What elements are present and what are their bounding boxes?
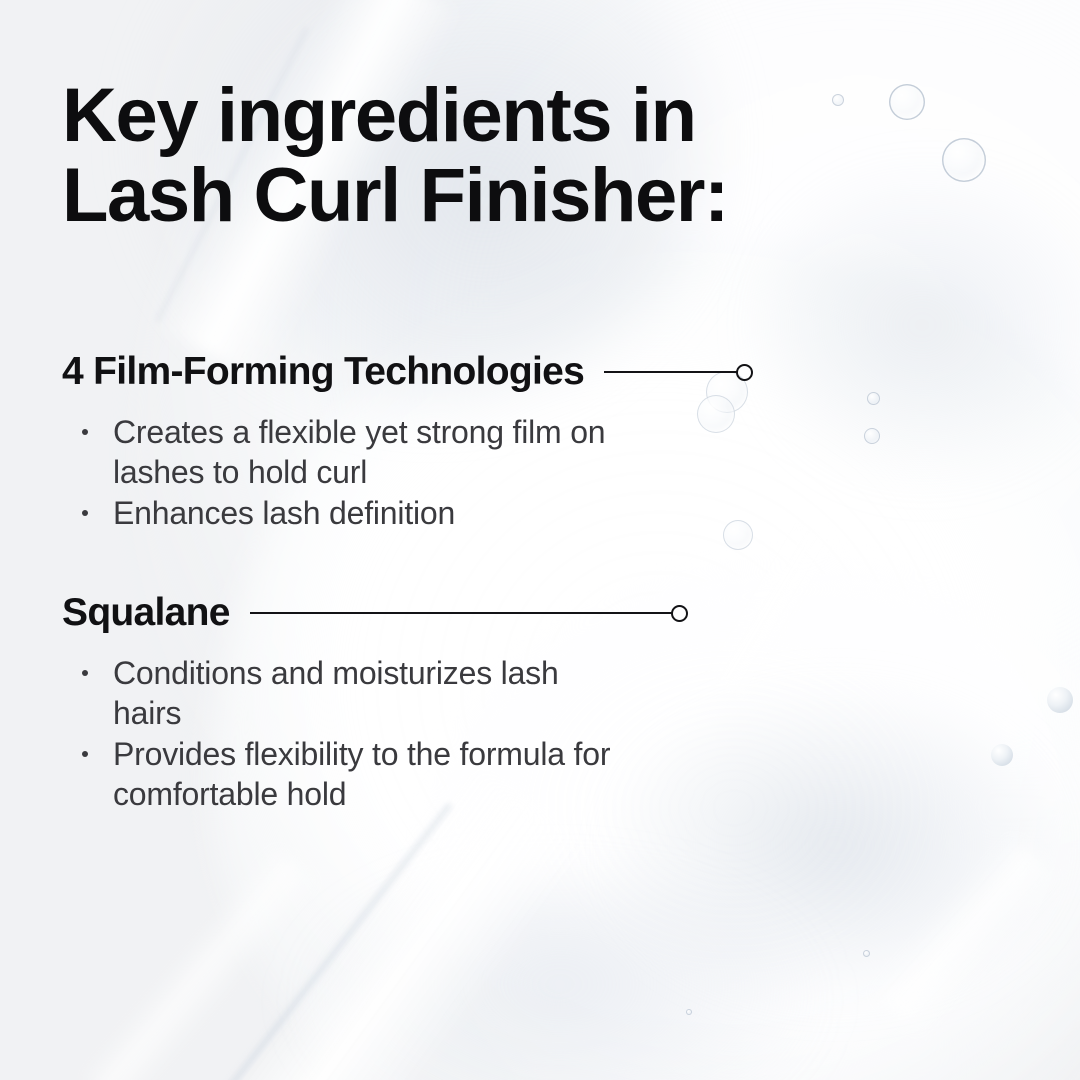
section-header: 4 Film-Forming Technologies [62,346,753,398]
section-title: 4 Film-Forming Technologies [62,350,584,394]
list-item: Conditions and moisturizes lash hairs [62,653,622,733]
list-item-text: Enhances lash definition [113,495,455,531]
bullet-dot-icon [82,751,88,757]
list-item: Provides flexibility to the formula for … [62,734,622,814]
bullet-list: Conditions and moisturizes lash hairs Pr… [62,653,688,814]
section-film-forming-technologies: 4 Film-Forming Technologies Creates a fl… [62,346,753,533]
page-title: Key ingredients inLash Curl Finisher: [62,76,762,236]
bullet-dot-icon [82,510,88,516]
section-squalane: Squalane Conditions and moisturizes lash… [62,587,688,814]
list-item-text: Provides flexibility to the formula for … [113,736,610,812]
connector [604,364,753,381]
ingredients-infographic: Key ingredients inLash Curl Finisher: 4 … [0,0,1080,1080]
connector-circle-icon [736,364,753,381]
connector-line [604,371,737,373]
list-item-text: Conditions and moisturizes lash hairs [113,655,559,731]
list-item-text: Creates a flexible yet strong film on la… [113,414,605,490]
list-item: Creates a flexible yet strong film on la… [62,412,622,492]
connector-circle-icon [671,605,688,622]
page-title-line-1: Key ingredients in [62,73,696,158]
section-header: Squalane [62,587,688,639]
connector [250,605,688,622]
list-item: Enhances lash definition [62,493,622,533]
bullet-list: Creates a flexible yet strong film on la… [62,412,753,533]
section-title: Squalane [62,591,230,635]
page-title-line-2: Lash Curl Finisher: [62,153,728,238]
content-overlay: Key ingredients inLash Curl Finisher: 4 … [0,0,1080,1080]
bullet-dot-icon [82,429,88,435]
bullet-dot-icon [82,670,88,676]
connector-line [250,612,672,614]
